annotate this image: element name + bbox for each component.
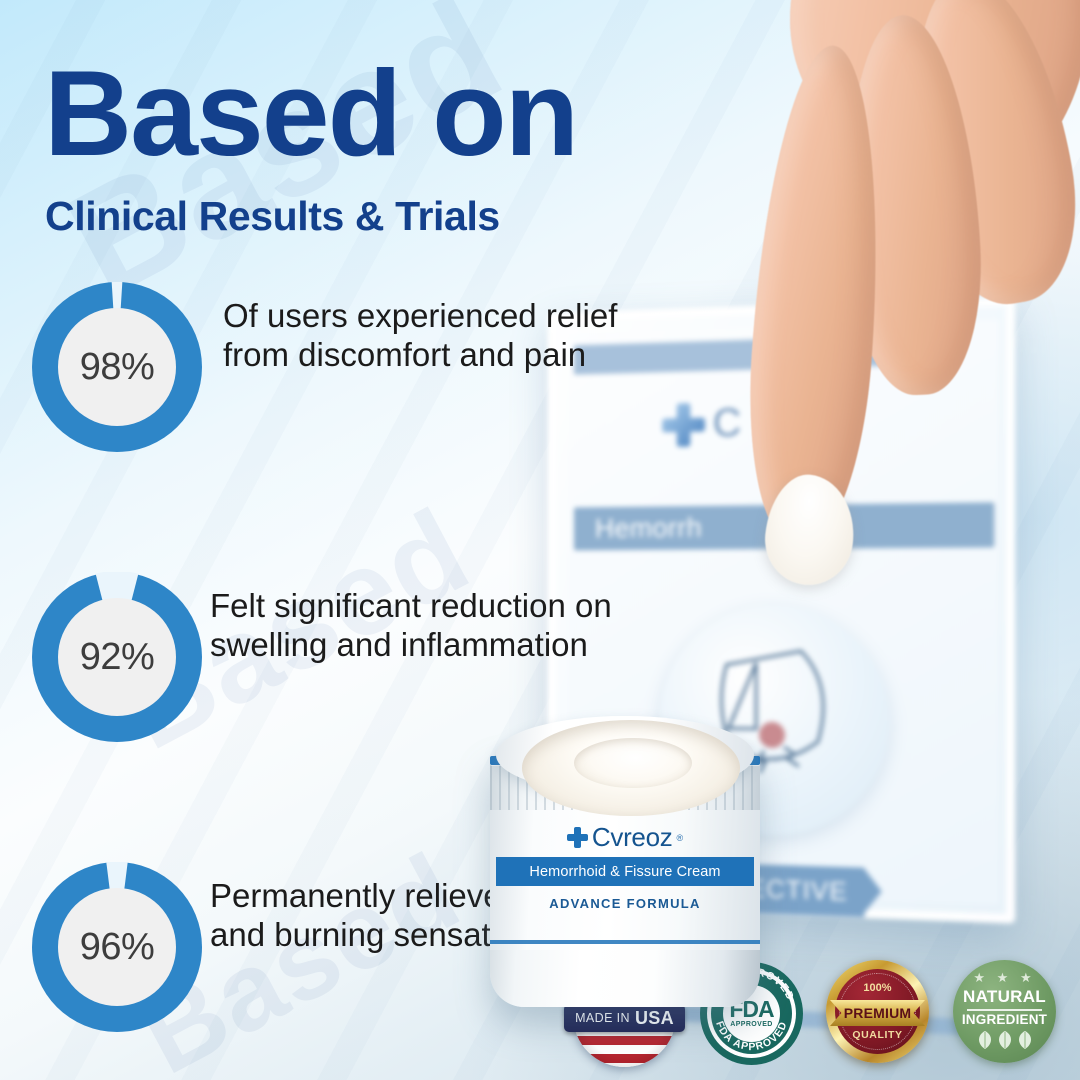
natural-label: NATURAL [953, 987, 1056, 1007]
badge-natural-ingredient: ★ ★ ★ NATURAL INGREDIENT [953, 960, 1056, 1063]
page-subtitle: Clinical Results & Trials [45, 193, 500, 240]
jar-label: Cvreoz ® Hemorrhoid & Fissure Cream ADVA… [490, 810, 760, 950]
jar-product-name-strip: Hemorrhoid & Fissure Cream [496, 857, 754, 886]
ingredient-label: INGREDIENT [953, 1012, 1056, 1027]
registered-trademark-icon: ® [676, 833, 683, 843]
leaf-icon [976, 1030, 994, 1050]
cream-swirl [574, 738, 692, 788]
donut-chart-98: 98% [32, 282, 202, 452]
jar-brand-lockup: Cvreoz ® [490, 822, 760, 853]
donut-chart-96: 96% [32, 862, 202, 1032]
jar-opening-cream [522, 720, 740, 816]
hand-applying-cream [670, 5, 1080, 645]
jar-product-name: Hemorrhoid & Fissure Cream [529, 864, 720, 880]
leaf-icon [996, 1030, 1014, 1050]
star-rating-icon: ★ ★ ★ [953, 970, 1056, 986]
leaf-icon [1016, 1030, 1034, 1050]
jar-formula-text: ADVANCE FORMULA [490, 896, 760, 911]
stat-description: Of users experienced relief from discomf… [223, 296, 648, 375]
promo-canvas: Based Based Based C Hemorrh [0, 0, 1080, 1080]
jar-rim [496, 716, 754, 794]
medical-cross-icon [567, 827, 588, 848]
donut-chart-92: 92% [32, 572, 202, 742]
leaf-icons [953, 1030, 1056, 1050]
jar-blue-stripe-bottom [490, 940, 760, 944]
premium-percent-label: 100% [826, 982, 929, 994]
natural-divider [967, 1009, 1042, 1011]
stat-value: 96% [32, 862, 202, 1032]
stat-value: 92% [32, 572, 202, 742]
badge-premium-quality: 100% PREMIUM QUALITY [826, 960, 929, 1063]
premium-quality-label: QUALITY [826, 1029, 929, 1041]
product-jar: Cvreoz ® Hemorrhoid & Fissure Cream ADVA… [490, 690, 760, 1020]
stat-description: Felt significant reduction on swelling a… [210, 586, 650, 665]
fda-core-line2: APPROVED [730, 1021, 773, 1028]
page-title: Based on [44, 52, 577, 174]
stat-value: 98% [32, 282, 202, 452]
stat-item: 98% Of users experienced relief from dis… [0, 282, 660, 472]
premium-label: PREMIUM [844, 1005, 912, 1021]
jar-brand-name: Cvreoz [592, 822, 673, 853]
premium-ribbon: PREMIUM [830, 1000, 925, 1026]
